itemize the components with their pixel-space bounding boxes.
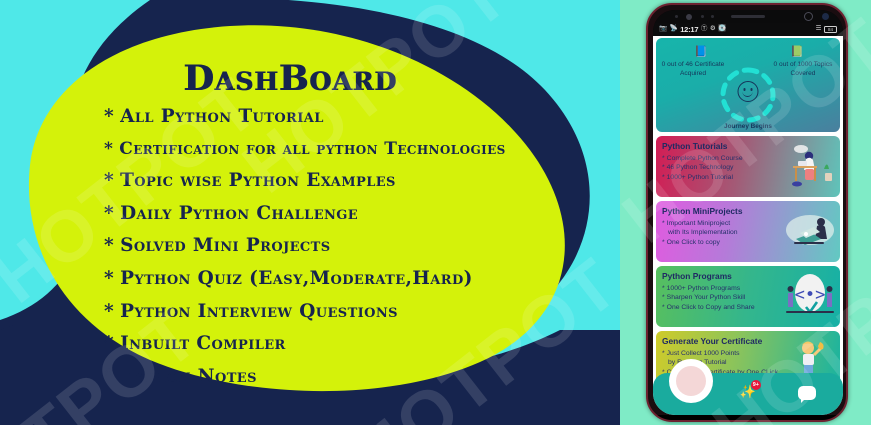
bullet-marker: * (104, 301, 114, 322)
card-python-miniprojects[interactable]: Python MiniProjects *Important Miniproje… (656, 201, 840, 262)
front-camera-icon (822, 13, 829, 20)
card-python-tutorials[interactable]: Python Tutorials *Complete Python Course… (656, 136, 840, 197)
list-item-label: Inbuilt Compiler (120, 333, 286, 354)
certificate-icon: 📘 (694, 45, 708, 58)
gear-icon: ⚙ (710, 26, 716, 33)
left-poster-panel: DashBoard *All Python Tutorial *Certific… (0, 0, 620, 425)
list-item-label: Python Notes (120, 366, 257, 387)
stats-card[interactable]: 📘 📗 0 out of 46 Certificate Acquired 0 o… (656, 38, 840, 132)
battery-icon: 84 (824, 26, 837, 33)
app-content: 📘 📗 0 out of 46 Certificate Acquired 0 o… (653, 36, 843, 415)
bullet-marker: * (104, 170, 114, 191)
list-item: *Topic wise Python Examples (104, 172, 620, 191)
progress-ring (717, 64, 779, 126)
bullet-marker: * (104, 139, 113, 159)
bullet-marker: * (104, 366, 114, 387)
list-item: *Inbuilt Compiler (104, 335, 620, 354)
notification-badge: 9+ (751, 380, 761, 390)
sensor-dot-icon (701, 15, 704, 18)
page-title: DashBoard (0, 58, 580, 99)
list-item-label: All Python Tutorial (120, 106, 324, 127)
feature-list: *All Python Tutorial *Certification for … (104, 108, 620, 401)
phone-screen: 📷 📡 12:17 Ⓣ ⚙ 💽 ☰ 84 📘 📗 0 out of (653, 10, 843, 415)
nav-item-chat[interactable] (796, 383, 818, 405)
list-item: *Daily Python Challenge (104, 205, 620, 224)
list-item-label: Python Interview Questions (120, 301, 398, 322)
sensor-dot-icon (711, 15, 714, 18)
bullet-marker: * (104, 203, 114, 224)
phone-side-button (846, 125, 848, 171)
list-item-label: Certification for all python Technologie… (119, 139, 505, 159)
home-fab-button[interactable] (676, 366, 706, 396)
journey-status-label: Journey Begins (656, 123, 840, 130)
bullet-marker: * (104, 333, 114, 354)
list-item-label: Topic wise Python Examples (120, 170, 396, 191)
list-item-label: Solved Mini Projects (120, 235, 330, 256)
list-item: *Python Interview Questions (104, 303, 620, 322)
svg-text:<•>: <•> (795, 285, 826, 305)
chat-bubble-icon (798, 386, 816, 400)
poster-canvas: DashBoard *All Python Tutorial *Certific… (0, 0, 871, 425)
earpiece-speaker (731, 15, 765, 18)
list-item: *Python Quiz (Easy,Moderate,Hard) (104, 270, 620, 289)
person-with-laptop-illustration (784, 206, 836, 256)
mute-icon: Ⓣ (701, 26, 708, 33)
phone-bottom-bezel (648, 415, 846, 420)
sim-icon: 💽 (718, 26, 726, 33)
smiley-icon (738, 81, 759, 102)
list-item: *All Python Tutorial (104, 108, 620, 127)
front-camera-icon (804, 12, 813, 21)
phone-mockup: 📷 📡 12:17 Ⓣ ⚙ 💽 ☰ 84 📘 📗 0 out of (646, 3, 848, 422)
list-item: *Solved Mini Projects (104, 237, 620, 256)
bottom-navigation-bar[interactable]: ✨ 9+ (653, 373, 843, 415)
code-brackets-illustration: <•> (784, 271, 836, 321)
photo-icon: 📷 (659, 26, 667, 33)
poster-text-block: DashBoard *All Python Tutorial *Certific… (0, 0, 620, 425)
status-time: 12:17 (680, 25, 698, 34)
list-item-label: Daily Python Challenge (120, 203, 358, 224)
card-python-programs[interactable]: Python Programs *1000+ Python Programs *… (656, 266, 840, 327)
phone-notch-bar (653, 10, 843, 23)
list-item: *Python Notes (104, 368, 620, 387)
woman-at-desk-illustration (784, 141, 836, 191)
list-item-label: Python Quiz (Easy,Moderate,Hard) (120, 268, 473, 289)
sensor-dot-icon (675, 15, 678, 18)
status-bar: 📷 📡 12:17 Ⓣ ⚙ 💽 ☰ 84 (653, 23, 843, 36)
signal-icon: 📡 (670, 26, 678, 33)
book-icon: 📗 (790, 45, 804, 58)
bullet-marker: * (104, 235, 114, 256)
wifi-icon: ☰ (816, 26, 822, 33)
sensor-dot-icon (686, 14, 692, 20)
list-item: *Certification for all python Technologi… (104, 141, 620, 158)
nav-item-notifications[interactable]: ✨ 9+ (737, 383, 759, 405)
bullet-marker: * (104, 106, 114, 127)
bullet-marker: * (104, 268, 114, 289)
